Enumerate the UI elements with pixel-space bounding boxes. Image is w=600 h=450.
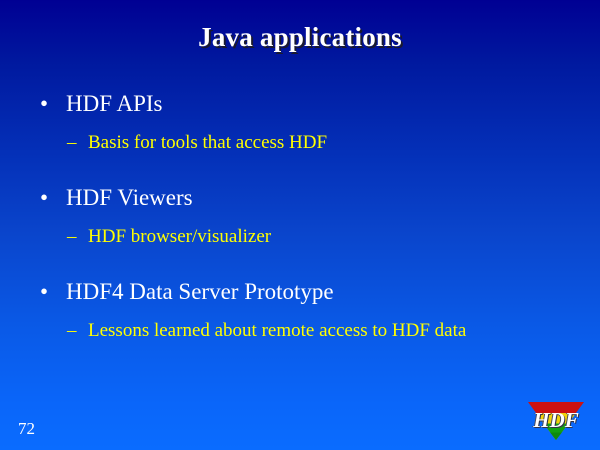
bullet-marker-icon: • [40, 88, 48, 120]
sub-bullet-item-hdf-browser: – HDF browser/visualizer [0, 223, 600, 251]
bullet-marker-icon: • [40, 182, 48, 214]
group-spacer [0, 160, 600, 182]
dash-marker-icon: – [67, 317, 77, 345]
slide-canvas: Java applications • HDF APIs – Basis for… [0, 0, 600, 450]
bullet-marker-icon: • [40, 276, 48, 308]
sub-bullet-label: Basis for tools that access HDF [88, 132, 327, 153]
sub-bullet-label: HDF browser/visualizer [88, 226, 271, 247]
slide-body: • HDF APIs – Basis for tools that access… [0, 88, 600, 348]
hdf-logo-text: HDF [523, 410, 589, 431]
bullet-group-2: • HDF Viewers – HDF browser/visualizer [0, 182, 600, 251]
dash-marker-icon: – [67, 129, 77, 157]
page-number: 72 [18, 420, 35, 438]
dash-marker-icon: – [67, 223, 77, 251]
bullet-item-hdf4-data-server-prototype: • HDF4 Data Server Prototype [0, 276, 600, 308]
page-title: Java applications [0, 22, 600, 53]
sub-bullet-label: Lessons learned about remote access to H… [88, 320, 466, 341]
bullet-group-1: • HDF APIs – Basis for tools that access… [0, 88, 600, 157]
bullet-label: HDF4 Data Server Prototype [66, 279, 334, 304]
bullet-label: HDF Viewers [66, 185, 193, 210]
sub-bullet-item-lessons-learned: – Lessons learned about remote access to… [0, 317, 600, 345]
bullet-label: HDF APIs [66, 91, 163, 116]
hdf-logo: HDF [526, 400, 586, 442]
bullet-group-3: • HDF4 Data Server Prototype – Lessons l… [0, 276, 600, 345]
bullet-item-hdf-apis: • HDF APIs [0, 88, 600, 120]
group-spacer [0, 254, 600, 276]
sub-bullet-item-basis-for-tools: – Basis for tools that access HDF [0, 129, 600, 157]
bullet-item-hdf-viewers: • HDF Viewers [0, 182, 600, 214]
